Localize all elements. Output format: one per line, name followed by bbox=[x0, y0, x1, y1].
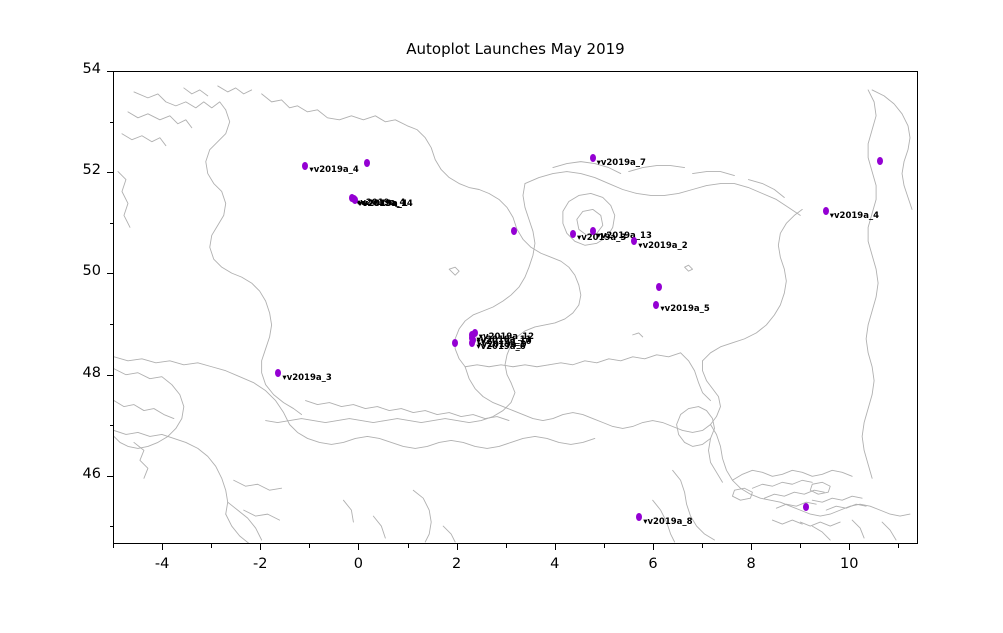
data-point-label: ▾v2019a_8 bbox=[643, 518, 692, 527]
x-tick-minor bbox=[309, 544, 310, 548]
data-point-label: ▾v2019a_4 bbox=[309, 166, 358, 175]
x-tick-major bbox=[162, 544, 163, 550]
x-tick-major bbox=[653, 544, 654, 550]
data-point[interactable] bbox=[352, 196, 358, 204]
x-tick-minor bbox=[898, 544, 899, 548]
x-tick-minor bbox=[408, 544, 409, 548]
x-tick-minor bbox=[702, 544, 703, 548]
x-tick-minor bbox=[211, 544, 212, 548]
x-tick-major bbox=[260, 544, 261, 550]
x-tick-minor bbox=[800, 544, 801, 548]
data-point-label: ▾v2019a_1 bbox=[359, 200, 408, 209]
y-tick-minor bbox=[110, 223, 114, 224]
y-tick-minor bbox=[110, 324, 114, 325]
plot-area[interactable]: ▾v2019a_4▾v2019a_4▾v2019a_14▾v2019a_1▾v2… bbox=[113, 71, 918, 544]
data-point[interactable] bbox=[590, 227, 596, 235]
y-tick-label: 50 bbox=[57, 263, 101, 279]
basemap-coastlines bbox=[114, 72, 917, 543]
x-tick-label: 8 bbox=[711, 556, 791, 572]
data-point-label: ▾v2019a_6 bbox=[476, 343, 525, 352]
y-tick-label: 52 bbox=[57, 162, 101, 178]
data-point-label: ▾v2019a_3 bbox=[282, 374, 331, 383]
data-point-label: ▾v2019a_13 bbox=[597, 232, 652, 241]
x-tick-major bbox=[358, 544, 359, 550]
data-point[interactable] bbox=[570, 230, 576, 238]
y-tick-label: 54 bbox=[57, 61, 101, 77]
y-tick-minor bbox=[110, 526, 114, 527]
x-tick-label: 10 bbox=[809, 556, 889, 572]
data-point-label: ▾v2019a_5 bbox=[660, 305, 709, 314]
x-tick-label: -2 bbox=[220, 556, 300, 572]
data-point-label: ▾v2019a_4 bbox=[830, 212, 879, 221]
x-tick-label: 2 bbox=[417, 556, 497, 572]
x-tick-minor bbox=[604, 544, 605, 548]
data-point-label: ▾v2019a_7 bbox=[597, 159, 646, 168]
data-point[interactable] bbox=[823, 207, 829, 215]
y-tick-major bbox=[107, 375, 113, 376]
x-tick-minor bbox=[113, 544, 114, 548]
y-tick-label: 48 bbox=[57, 365, 101, 381]
x-tick-major bbox=[849, 544, 850, 550]
chart-title: Autoplot Launches May 2019 bbox=[113, 40, 918, 58]
data-point[interactable] bbox=[877, 157, 883, 165]
x-tick-minor bbox=[506, 544, 507, 548]
x-tick-major bbox=[555, 544, 556, 550]
x-tick-label: 0 bbox=[318, 556, 398, 572]
y-tick-major bbox=[107, 71, 113, 72]
figure-canvas: Autoplot Launches May 2019 bbox=[0, 0, 1003, 633]
data-point[interactable] bbox=[590, 154, 596, 162]
x-tick-label: 4 bbox=[515, 556, 595, 572]
data-point[interactable] bbox=[364, 159, 370, 167]
y-tick-minor bbox=[110, 122, 114, 123]
x-tick-major bbox=[751, 544, 752, 550]
data-point[interactable] bbox=[656, 283, 662, 291]
x-tick-label: 6 bbox=[613, 556, 693, 572]
y-tick-label: 46 bbox=[57, 466, 101, 482]
data-point-label: ▾v2019a_2 bbox=[638, 242, 687, 251]
y-tick-minor bbox=[110, 425, 114, 426]
x-tick-label: -4 bbox=[122, 556, 202, 572]
y-tick-major bbox=[107, 476, 113, 477]
y-tick-major bbox=[107, 273, 113, 274]
x-tick-major bbox=[457, 544, 458, 550]
data-point[interactable] bbox=[452, 339, 458, 347]
y-tick-major bbox=[107, 172, 113, 173]
